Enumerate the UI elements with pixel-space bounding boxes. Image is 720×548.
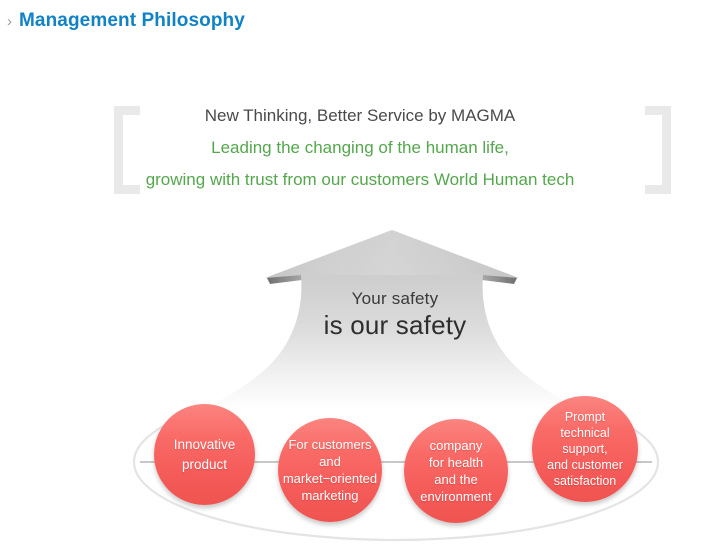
page-title: Management Philosophy — [19, 10, 245, 32]
value-circle-1-label: Innovativeproduct — [170, 435, 240, 475]
slogan-lines: New Thinking, Better Service by MAGMA Le… — [110, 100, 610, 196]
chevron-right-icon: › — [7, 14, 12, 29]
slogan-block: New Thinking, Better Service by MAGMA Le… — [0, 100, 720, 200]
value-circle-2[interactable]: For customersandmarket−orientedmarketing — [278, 418, 382, 522]
value-circle-4-label: Prompttechnicalsupport,and customersatis… — [543, 409, 627, 489]
slogan-line-2: Leading the changing of the human life, — [110, 132, 610, 164]
upward-arrow-icon — [120, 222, 600, 422]
value-circle-4[interactable]: Prompttechnicalsupport,and customersatis… — [532, 396, 638, 502]
value-circle-2-label: For customersandmarket−orientedmarketing — [279, 436, 381, 504]
slogan-line-3: growing with trust from our customers Wo… — [110, 164, 610, 196]
page-heading: › Management Philosophy — [0, 4, 245, 38]
value-circle-1[interactable]: Innovativeproduct — [154, 404, 255, 505]
slogan-line-1: New Thinking, Better Service by MAGMA — [110, 100, 610, 132]
value-circle-3-label: companyfor healthand theenvironment — [416, 437, 496, 505]
bracket-right-icon — [645, 106, 671, 194]
value-circle-3[interactable]: companyfor healthand theenvironment — [404, 419, 508, 523]
